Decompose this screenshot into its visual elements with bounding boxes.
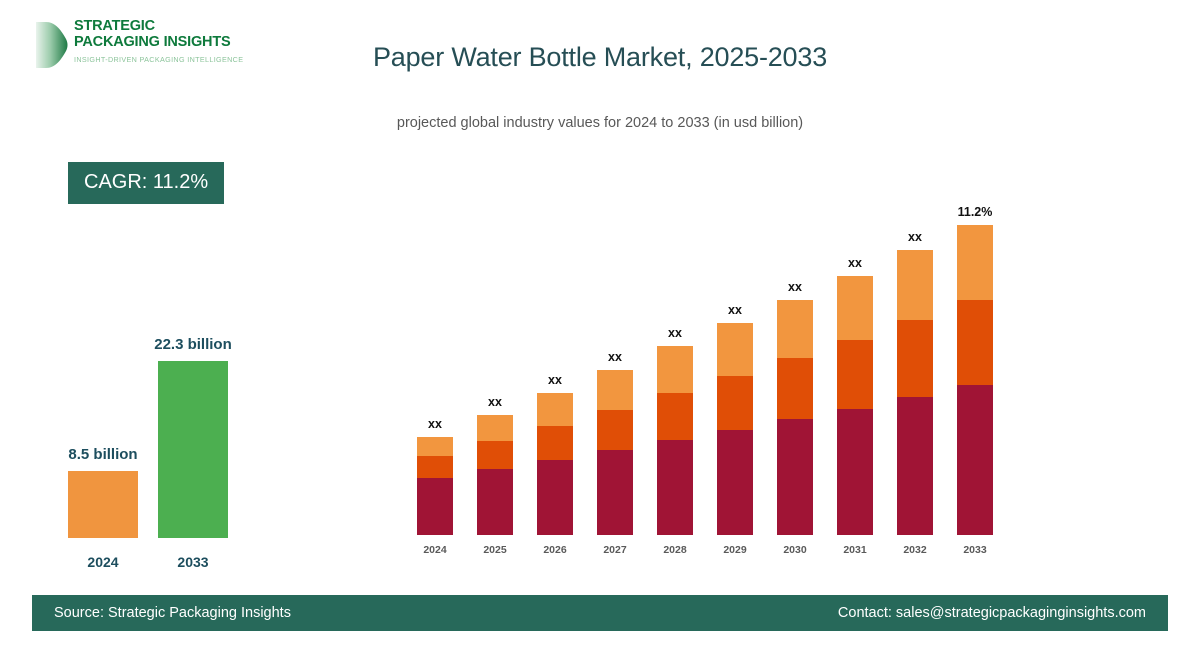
page-subtitle: projected global industry values for 202… — [300, 115, 900, 131]
comparison-year-label: 2024 — [68, 554, 138, 570]
stacked-bar-group: xx2026 — [537, 190, 573, 560]
stacked-bar — [537, 393, 573, 535]
bar-year-label: 2031 — [827, 544, 883, 556]
bar-segment-segment-middle — [417, 456, 453, 478]
comparison-bar — [158, 361, 228, 538]
bar-segment-segment-bottom — [837, 409, 873, 535]
stacked-bar-group: xx2031 — [837, 190, 873, 560]
stacked-bar — [417, 437, 453, 535]
comparison-bar-wrap — [40, 348, 320, 538]
stacked-bar-group: xx2027 — [597, 190, 633, 560]
bar-segment-segment-bottom — [777, 419, 813, 535]
bar-segment-segment-middle — [597, 410, 633, 450]
bar-segment-segment-middle — [657, 393, 693, 440]
bar-year-label: 2033 — [947, 544, 1003, 556]
bar-segment-segment-top — [537, 393, 573, 426]
bar-year-label: 2032 — [887, 544, 943, 556]
stacked-bar-chart: xx2024xx2025xx2026xx2027xx2028xx2029xx20… — [400, 190, 1020, 560]
bar-segment-segment-top — [837, 276, 873, 340]
bar-value-label: xx — [520, 373, 590, 387]
bar-segment-segment-top — [417, 437, 453, 456]
bar-segment-segment-middle — [837, 340, 873, 409]
logo-wordmark: STRATEGIC PACKAGING INSIGHTS INSIGHT-DRI… — [74, 18, 279, 65]
stacked-bar — [777, 300, 813, 535]
bar-segment-segment-bottom — [477, 469, 513, 535]
stacked-bar-group: xx2032 — [897, 190, 933, 560]
comparison-chart: 8.5 billion202422.3 billion2033 — [40, 300, 320, 580]
footer-bar: Source: Strategic Packaging Insights Con… — [32, 595, 1168, 631]
stacked-bar — [837, 276, 873, 535]
stacked-bar-group: xx2025 — [477, 190, 513, 560]
bar-segment-segment-middle — [777, 358, 813, 419]
bar-segment-segment-bottom — [597, 450, 633, 535]
bar-year-label: 2024 — [407, 544, 463, 556]
bar-segment-segment-top — [477, 415, 513, 441]
bar-segment-segment-bottom — [417, 478, 453, 535]
stacked-bar — [717, 323, 753, 535]
bar-segment-segment-top — [897, 250, 933, 320]
green-chevron-icon — [28, 18, 78, 72]
footer-contact: Contact: sales@strategicpackaginginsight… — [838, 605, 1146, 621]
bar-segment-segment-middle — [537, 426, 573, 460]
chart-page: STRATEGIC PACKAGING INSIGHTS INSIGHT-DRI… — [0, 0, 1200, 650]
bar-segment-segment-top — [597, 370, 633, 410]
bar-value-label: xx — [700, 303, 770, 317]
bar-value-label: xx — [820, 256, 890, 270]
bar-year-label: 2030 — [767, 544, 823, 556]
bar-segment-segment-top — [717, 323, 753, 376]
bar-segment-segment-top — [957, 225, 993, 300]
bar-year-label: 2027 — [587, 544, 643, 556]
stacked-bar — [657, 346, 693, 535]
bar-segment-segment-middle — [897, 320, 933, 397]
bar-value-label: xx — [760, 280, 830, 294]
stacked-bar-group: 11.2%2033 — [957, 190, 993, 560]
stacked-bar-group: xx2024 — [417, 190, 453, 560]
bar-value-label: xx — [880, 230, 950, 244]
stacked-bar — [597, 370, 633, 535]
footer-source: Source: Strategic Packaging Insights — [54, 605, 291, 621]
bar-year-label: 2025 — [467, 544, 523, 556]
stacked-bar-group: xx2030 — [777, 190, 813, 560]
stacked-bar-group: xx2029 — [717, 190, 753, 560]
bar-year-label: 2026 — [527, 544, 583, 556]
bar-segment-segment-top — [657, 346, 693, 393]
stacked-bar — [897, 250, 933, 535]
bar-segment-segment-bottom — [957, 385, 993, 535]
logo-line-1: STRATEGIC — [74, 18, 279, 34]
bar-value-label: 11.2% — [940, 205, 1010, 219]
bar-segment-segment-bottom — [657, 440, 693, 535]
bar-value-label: xx — [460, 395, 530, 409]
comparison-value-label: 22.3 billion — [118, 336, 268, 353]
bar-segment-segment-middle — [957, 300, 993, 385]
bar-value-label: xx — [400, 417, 470, 431]
comparison-year-label: 2033 — [158, 554, 228, 570]
bar-value-label: xx — [640, 326, 710, 340]
bar-year-label: 2029 — [707, 544, 763, 556]
stacked-bar — [477, 415, 513, 535]
stacked-bar-group: xx2028 — [657, 190, 693, 560]
bar-segment-segment-top — [777, 300, 813, 358]
logo-tagline: INSIGHT-DRIVEN PACKAGING INTELLIGENCE — [74, 55, 279, 65]
page-title: Paper Water Bottle Market, 2025-2033 — [300, 42, 900, 73]
logo-line-2: PACKAGING INSIGHTS — [74, 34, 279, 50]
bar-segment-segment-bottom — [717, 430, 753, 535]
bar-segment-segment-middle — [477, 441, 513, 469]
bar-segment-segment-bottom — [897, 397, 933, 535]
bar-value-label: xx — [580, 350, 650, 364]
bar-year-label: 2028 — [647, 544, 703, 556]
brand-logo: STRATEGIC PACKAGING INSIGHTS INSIGHT-DRI… — [28, 16, 278, 76]
stacked-bar — [957, 225, 993, 535]
cagr-badge: CAGR: 11.2% — [68, 162, 224, 204]
bar-segment-segment-middle — [717, 376, 753, 430]
bar-segment-segment-bottom — [537, 460, 573, 535]
